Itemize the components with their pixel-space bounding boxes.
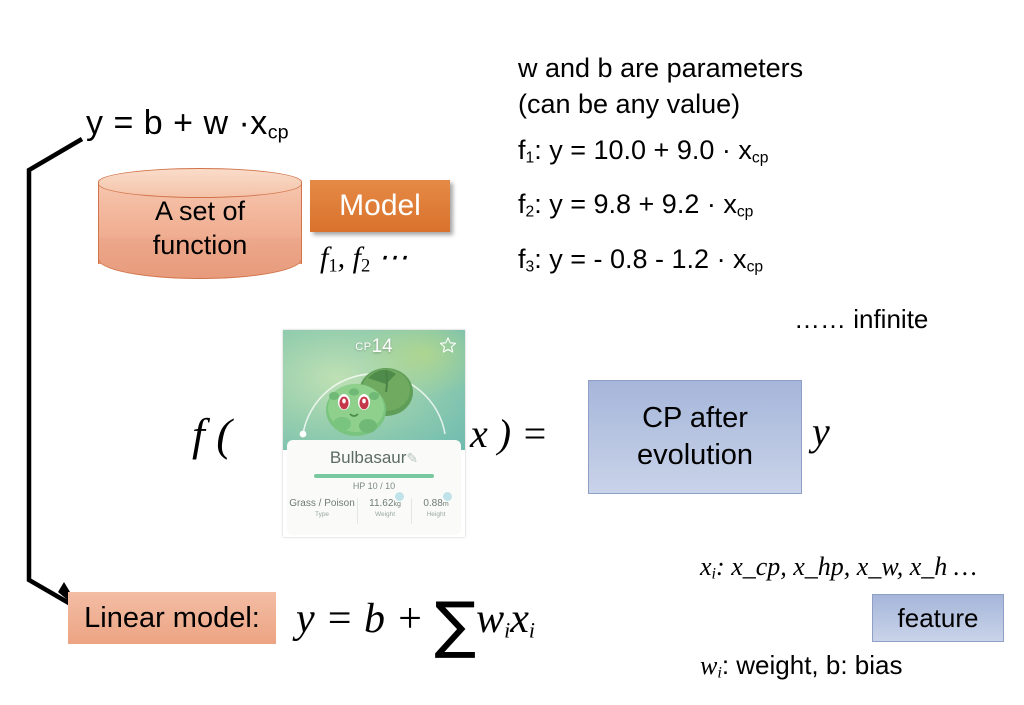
pokemon-stat-height-value: 0.88m [413,498,459,509]
pokemon-card-info-panel: Bulbasaur✎ HP 10 / 10 Grass / Poison Typ… [287,440,461,535]
pokemon-cp-prefix: CP [355,341,371,353]
pokemon-stat-type-value: Grass / Poison [289,498,355,509]
weight-unit: kg [393,501,400,508]
f3-x-subscript: cp [747,258,764,275]
lin-equals: = [325,596,353,642]
cp-after-evolution-box: CP after evolution [588,380,802,494]
model-f1-index: 1 [328,256,337,277]
linear-model-box: Linear model: [68,592,276,644]
hp-label: HP 10 / 10 [287,481,461,491]
feature-box-label: feature [898,603,979,634]
cp-box-line1: CP after [637,400,753,437]
f1-index: 1 [526,149,535,166]
pokemon-stat-type-caption: Type [289,511,355,518]
f3-name: f [518,244,526,274]
slide-canvas: y = b + w ·xcp A set of function Model f… [0,0,1024,705]
model-f2: f [353,241,361,274]
function-equation-f2: f2: y = 9.8 + 9.2 · xcp [518,186,803,230]
set-of-function-cylinder: A set of function [98,168,302,278]
hp-bar [314,474,434,478]
f1-body: : y = 10.0 + 9.0 · x [534,135,752,165]
weight-bias-line: wi: weight, b: bias [700,650,902,683]
model-dots: ⋯ [378,241,408,274]
weight-number: 11.62 [369,498,393,509]
model-f2-index: 2 [361,256,370,277]
lin-y: y [296,596,315,642]
pokemon-name-text: Bulbasaur [330,448,407,467]
pokemon-name: Bulbasaur✎ [287,448,461,468]
cp-box-line2: evolution [637,437,753,474]
stat-divider [357,498,358,524]
top-formula-eq: = [113,104,133,142]
wi-symbol: w [700,651,717,680]
f2-x-subscript: cp [737,204,754,221]
function-equation-f1: f1: y = 10.0 + 9.0 · xcp [518,132,803,176]
cylinder-label-line1: A set of [98,194,302,228]
top-formula-plus: + [173,104,193,142]
function-close-text: x ) = [470,411,548,456]
stat-divider [411,498,412,524]
model-box: Model [310,180,450,232]
parameters-line-2: (can be any value) [518,86,803,122]
pokemon-card: CP14 Bulbasaur✎ [283,330,465,537]
model-function-list: f1, f2 ⋯ [320,240,408,278]
top-formula-b: b [144,104,163,142]
pokemon-stat-type: Grass / Poison Type [289,498,355,518]
lin-x: x [510,596,529,642]
linear-model-label: Linear model: [84,602,260,635]
height-number: 0.88 [423,498,442,509]
lin-x-subscript: i [529,618,535,642]
lin-b: b [364,596,385,642]
f2-body: : y = 9.8 + 9.2 · x [534,189,737,219]
favorite-star-icon[interactable] [439,336,457,354]
height-badge-icon [443,492,452,501]
top-formula: y = b + w ·xcp [86,104,289,144]
parameters-text-block: w and b are parameters (can be any value… [518,50,803,285]
y-output-label: y [812,408,830,455]
infinite-label: …… infinite [794,304,928,335]
pokemon-stat-weight-caption: Weight [361,511,409,518]
model-box-label: Model [339,189,421,223]
pokemon-stat-height-caption: Height [413,511,459,518]
function-equation-f3: f3: y = - 0.8 - 1.2 · xcp [518,241,803,285]
lin-w: w [476,596,504,642]
top-formula-x: x [250,104,268,142]
top-formula-y: y [86,104,104,142]
function-open-paren: f ( [192,408,232,461]
cylinder-label-line2: function [98,228,302,262]
top-formula-x-subscript: cp [268,121,289,143]
f2-index: 2 [526,204,535,221]
pokemon-cp-label: CP14 [283,336,465,358]
cylinder-label: A set of function [98,194,302,262]
xi-symbol: x [700,552,712,581]
pokemon-stat-weight: 11.62kg Weight [361,498,409,518]
model-comma: , [338,241,346,274]
pokemon-cp-value: 14 [372,336,393,357]
summation-icon: ∑ [434,588,476,661]
rename-pencil-icon[interactable]: ✎ [406,450,418,466]
lin-plus: + [396,596,424,642]
top-formula-dot: · [238,104,250,142]
parameters-line-1: w and b are parameters [518,50,803,86]
f3-body: : y = - 0.8 - 1.2 · x [534,244,746,274]
f1-x-subscript: cp [752,149,769,166]
top-formula-w: w [203,104,228,142]
bulbasaur-icon [320,362,428,448]
wi-rest: : weight, b: bias [722,650,903,680]
height-unit: m [443,501,449,508]
f3-index: 3 [526,258,535,275]
f1-name: f [518,135,526,165]
f2-name: f [518,189,526,219]
weight-badge-icon [395,492,404,501]
linear-model-equation: y = b + ∑wixi [296,588,535,661]
feature-variable-line: xi: x_cp, x_hp, x_w, x_h … [700,552,977,584]
xi-list: : x_cp, x_hp, x_w, x_h … [716,552,977,581]
pokemon-stat-height: 0.88m Height [413,498,459,518]
function-close-paren: x ) = [470,410,548,457]
feature-box: feature [872,594,1004,642]
